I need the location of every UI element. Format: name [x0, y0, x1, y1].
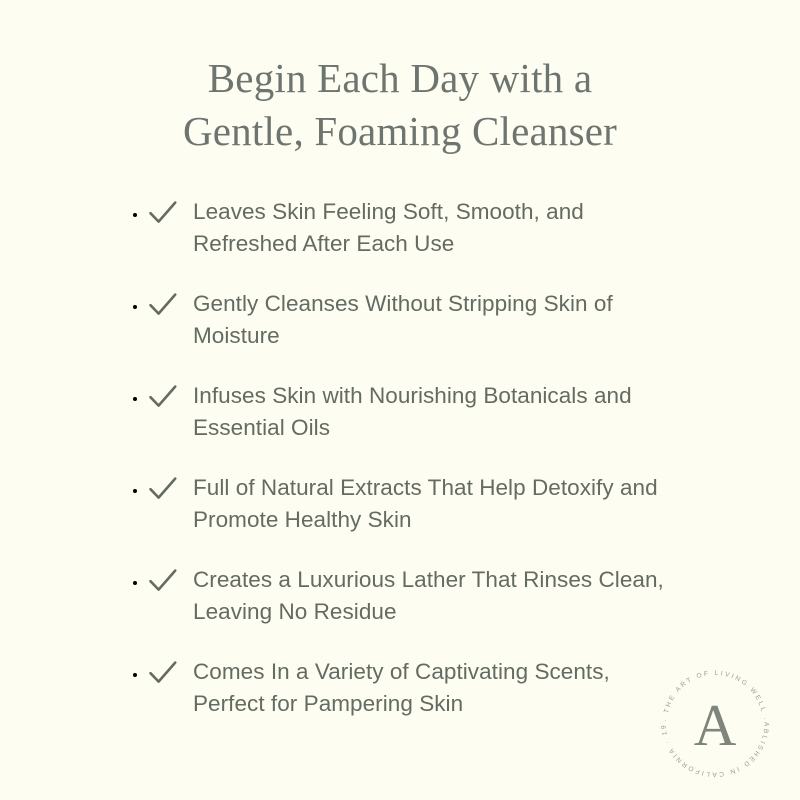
brand-logo-badge: · THE ART OF LIVING WELL · ESTABLISHED I… — [654, 662, 776, 784]
check-icon — [148, 659, 178, 687]
check-icon — [148, 199, 178, 227]
list-item-label: Gently Cleanses Without Stripping Skin o… — [193, 291, 613, 348]
list-item: Creates a Luxurious Lather That Rinses C… — [148, 564, 668, 656]
check-icon — [148, 475, 178, 503]
list-item-label: Leaves Skin Feeling Soft, Smooth, and Re… — [193, 199, 584, 256]
logo-monogram: A — [694, 692, 737, 758]
page-title-line-1: Begin Each Day with a — [0, 52, 800, 105]
list-item-label: Infuses Skin with Nourishing Botanicals … — [193, 383, 632, 440]
list-item: Full of Natural Extracts That Help Detox… — [148, 472, 668, 564]
page-title-line-2: Gentle, Foaming Cleanser — [0, 105, 800, 158]
list-item: Leaves Skin Feeling Soft, Smooth, and Re… — [148, 196, 668, 288]
list-item: Infuses Skin with Nourishing Botanicals … — [148, 380, 668, 472]
list-item: Gently Cleanses Without Stripping Skin o… — [148, 288, 668, 380]
check-icon — [148, 567, 178, 595]
benefit-list: Leaves Skin Feeling Soft, Smooth, and Re… — [148, 196, 668, 748]
page-title: Begin Each Day with a Gentle, Foaming Cl… — [0, 52, 800, 158]
list-item-label: Comes In a Variety of Captivating Scents… — [193, 659, 610, 716]
check-icon — [148, 383, 178, 411]
promo-card: Begin Each Day with a Gentle, Foaming Cl… — [0, 0, 800, 800]
list-item: Comes In a Variety of Captivating Scents… — [148, 656, 668, 748]
list-item-label: Creates a Luxurious Lather That Rinses C… — [193, 567, 664, 624]
check-icon — [148, 291, 178, 319]
list-item-label: Full of Natural Extracts That Help Detox… — [193, 475, 658, 532]
